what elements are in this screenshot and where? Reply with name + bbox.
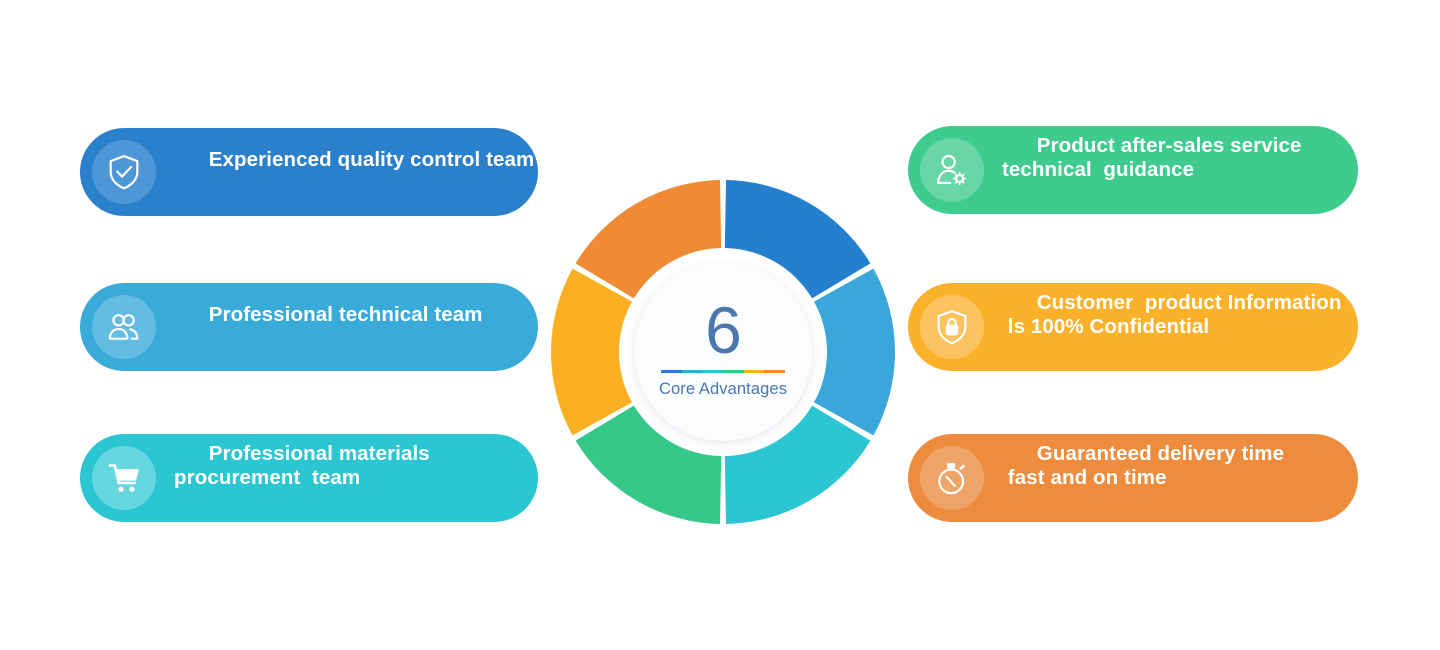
user-gear-icon bbox=[920, 138, 984, 202]
hub-rule-segment bbox=[764, 370, 785, 373]
infographic-canvas: Experienced quality control team Profess… bbox=[0, 0, 1440, 650]
advantage-card-text: Product after-sales servicetechnical gui… bbox=[1002, 110, 1302, 231]
donut-segment[interactable] bbox=[551, 269, 632, 436]
advantage-card-after-sales-service[interactable]: Product after-sales servicetechnical gui… bbox=[908, 126, 1358, 214]
hub-rule-segment bbox=[744, 370, 765, 373]
hub-color-rule bbox=[661, 370, 785, 373]
stopwatch-icon bbox=[920, 446, 984, 510]
advantage-card-text: Professional technical team bbox=[174, 279, 483, 376]
hub-label: Core Advantages bbox=[659, 380, 787, 399]
advantage-card-confidentiality[interactable]: Customer product Information ls 100% Con… bbox=[908, 283, 1358, 371]
hub-rule-segment bbox=[702, 370, 723, 373]
hub-rule-segment bbox=[682, 370, 703, 373]
advantage-card-text: Guaranteed delivery time fast and on tim… bbox=[1002, 418, 1284, 539]
advantage-card-materials-procurement[interactable]: Professional materialsprocurement team bbox=[80, 434, 538, 522]
core-advantages-donut-chart: 6 Core Advantages bbox=[549, 178, 897, 526]
users-group-icon bbox=[92, 295, 156, 359]
advantage-card-quality-control[interactable]: Experienced quality control team bbox=[80, 128, 538, 216]
card-line-1: Guaranteed delivery time bbox=[1037, 442, 1284, 465]
advantage-card-delivery-time[interactable]: Guaranteed delivery time fast and on tim… bbox=[908, 434, 1358, 522]
shopping-cart-icon bbox=[92, 446, 156, 510]
card-line-1: Professional materials bbox=[209, 442, 430, 465]
card-line-2: ls 100% Confidential bbox=[1002, 315, 1342, 339]
advantage-card-text: Customer product Information ls 100% Con… bbox=[1002, 267, 1342, 388]
advantage-count: 6 bbox=[705, 299, 741, 361]
advantage-card-text: Experienced quality control team bbox=[174, 124, 534, 221]
card-line-1: Professional technical team bbox=[209, 303, 483, 326]
shield-check-icon bbox=[92, 140, 156, 204]
shield-lock-icon bbox=[920, 295, 984, 359]
hub-rule-segment bbox=[661, 370, 682, 373]
card-line-2: technical guidance bbox=[1002, 158, 1302, 182]
donut-segment[interactable] bbox=[814, 269, 895, 436]
card-line-1: Customer product Information bbox=[1037, 291, 1342, 314]
card-line-1: Experienced quality control team bbox=[209, 148, 535, 171]
advantage-card-technical-team[interactable]: Professional technical team bbox=[80, 283, 538, 371]
card-line-1: Product after-sales service bbox=[1037, 134, 1302, 157]
donut-center-hub: 6 Core Advantages bbox=[634, 263, 812, 441]
card-line-2: procurement team bbox=[174, 466, 430, 490]
card-line-2: fast and on time bbox=[1002, 466, 1284, 490]
advantage-card-text: Professional materialsprocurement team bbox=[174, 418, 430, 539]
hub-rule-segment bbox=[723, 370, 744, 373]
